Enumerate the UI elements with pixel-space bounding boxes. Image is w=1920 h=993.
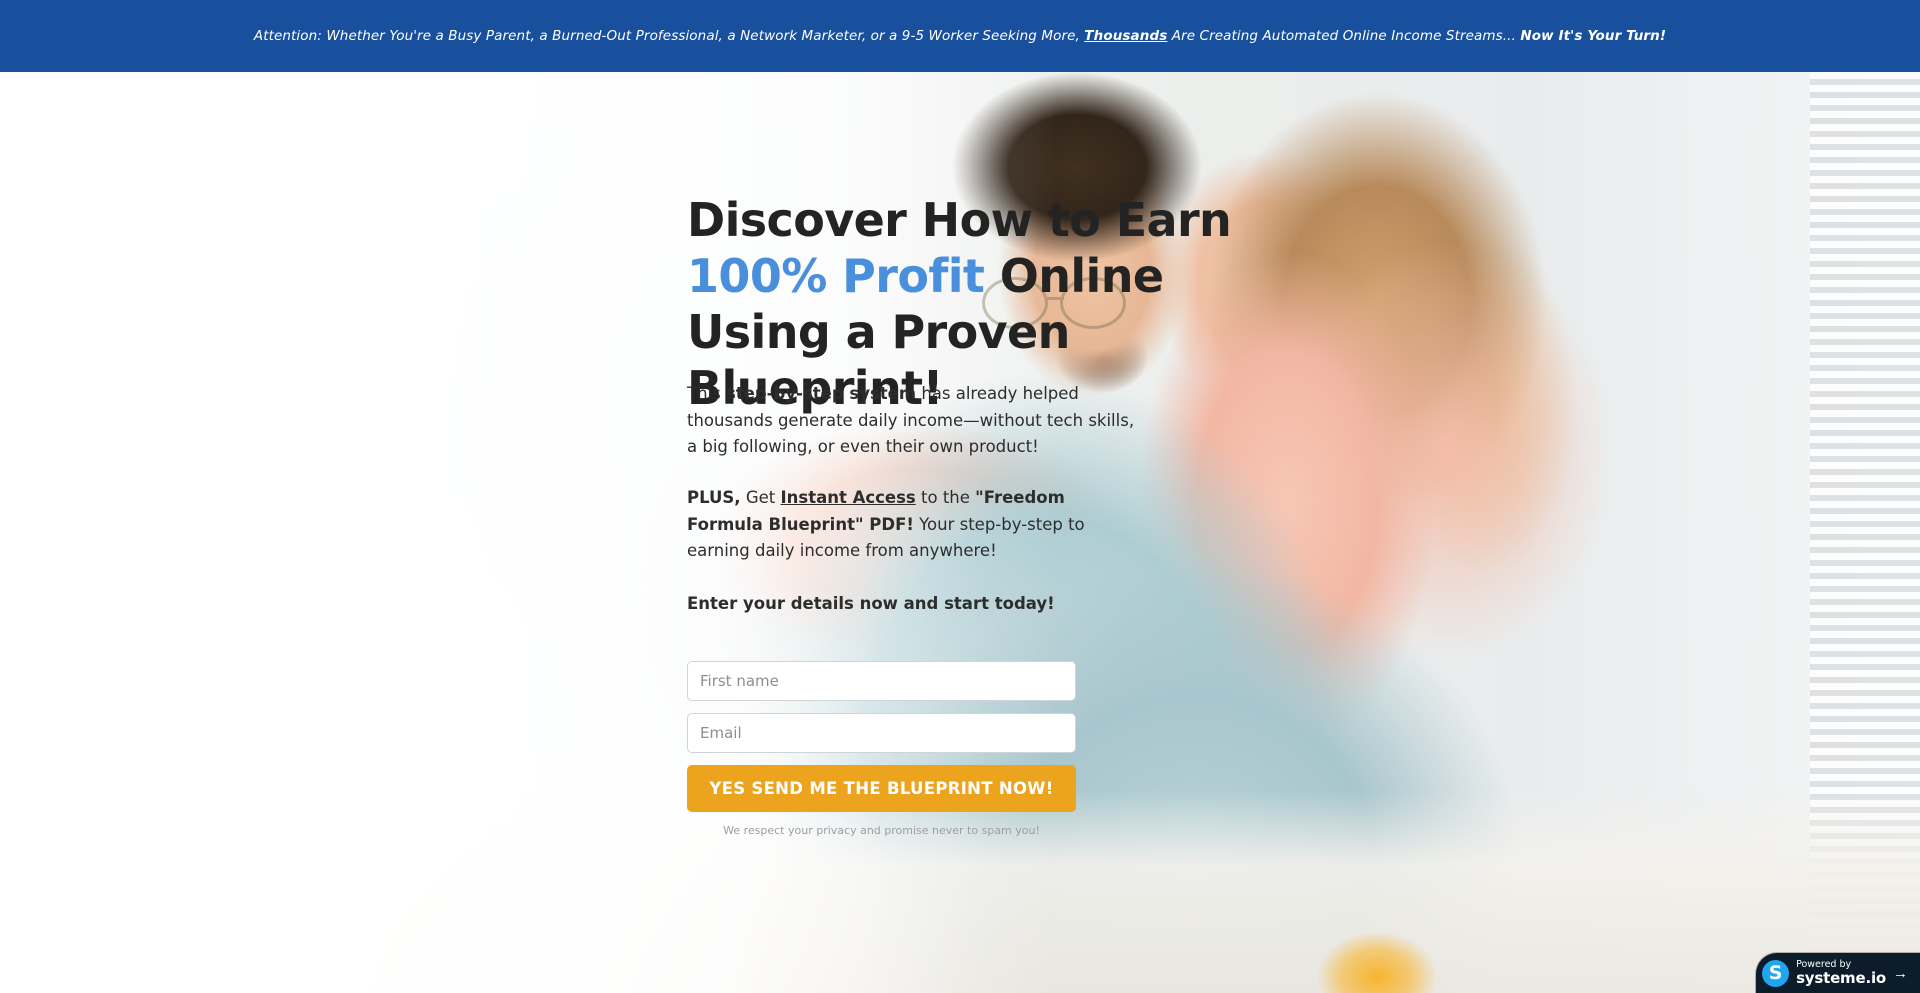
email-input[interactable]	[687, 713, 1076, 753]
announcement-keyword: Thousands	[1084, 28, 1167, 44]
announcement-middle: Are Creating Automated Online Income Str…	[1172, 28, 1516, 44]
headline-line-2-rest: Online	[1000, 249, 1164, 303]
badge-brand-name: systeme.io	[1796, 971, 1886, 986]
announcement-text: Attention: Whether You're a Busy Parent,…	[254, 28, 1666, 44]
headline-line-1: Discover How to Earn	[687, 193, 1231, 247]
hero-paragraph-1: This step-by-step system has already hel…	[687, 381, 1139, 461]
hero-section: Discover How to Earn 100% Profit Online …	[357, 72, 1920, 993]
announcement-prefix: Attention: Whether You're a Busy Parent,…	[254, 28, 1080, 44]
badge-powered-by-label: Powered by	[1796, 960, 1886, 970]
paragraph-1-before: This	[687, 384, 726, 403]
privacy-note: We respect your privacy and promise neve…	[687, 824, 1076, 837]
paragraph-1-bold: step-by-step system	[726, 384, 916, 403]
powered-by-badge[interactable]: S Powered by systeme.io →	[1756, 953, 1920, 993]
systeme-logo-icon: S	[1762, 960, 1789, 987]
announcement-tail: Now It's Your Turn!	[1520, 28, 1666, 44]
hero-paragraph-3: Enter your details now and start today!	[687, 591, 1139, 618]
announcement-bar: Attention: Whether You're a Busy Parent,…	[0, 0, 1920, 72]
badge-text-block: Powered by systeme.io	[1796, 960, 1886, 987]
headline-accent: 100% Profit	[687, 249, 984, 303]
systeme-logo-letter: S	[1769, 964, 1783, 983]
submit-button-label: YES SEND ME THE BLUEPRINT NOW!	[709, 779, 1053, 798]
optin-form: YES SEND ME THE BLUEPRINT NOW! We respec…	[687, 661, 1076, 837]
paragraph-2-seg-2: to the	[916, 488, 975, 507]
hero-paragraph-2: PLUS, Get Instant Access to the "Freedom…	[687, 485, 1139, 565]
first-name-input[interactable]	[687, 661, 1076, 701]
instant-access-link[interactable]: Instant Access	[780, 488, 915, 507]
submit-button[interactable]: YES SEND ME THE BLUEPRINT NOW!	[687, 765, 1076, 812]
paragraph-2-lead: PLUS,	[687, 488, 741, 507]
arrow-right-icon: →	[1893, 965, 1908, 982]
paragraph-2-seg-1: Get	[741, 488, 781, 507]
